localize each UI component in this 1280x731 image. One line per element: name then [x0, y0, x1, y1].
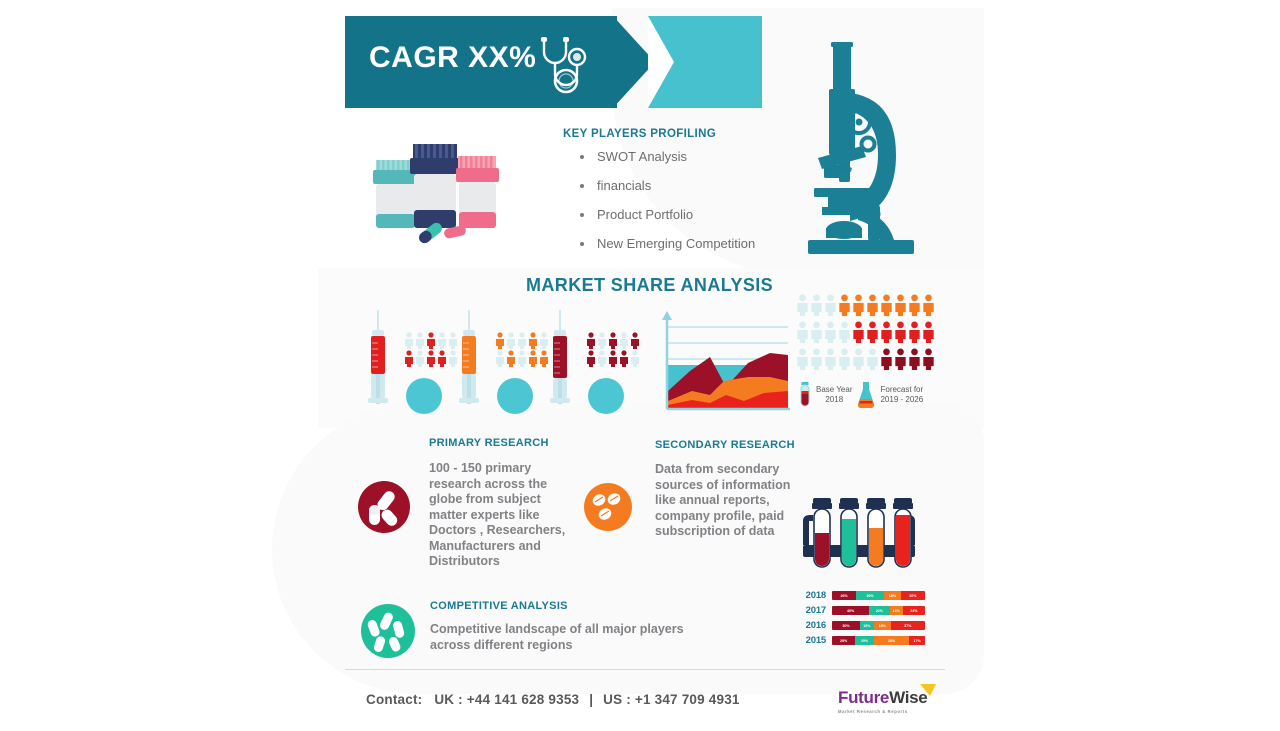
market-share-dot: [588, 378, 624, 414]
syringe-icon: [457, 310, 483, 414]
logo-part-future: Future: [838, 688, 889, 707]
bar-segment: 26%: [832, 591, 856, 600]
bar-segment: 20%: [855, 636, 874, 645]
bar-segment: 14%: [890, 606, 903, 615]
capsules-circle-icon: [361, 604, 415, 658]
pictogram-row: [796, 294, 956, 316]
bar-segment: 30%: [832, 621, 860, 630]
banner-notch-shape: [648, 16, 674, 108]
contact-line: Contact: UK : +44 141 628 9353 | US : +1…: [366, 692, 740, 707]
competitive-analysis-title: COMPETITIVE ANALYSIS: [430, 600, 568, 612]
market-share-dot: [497, 378, 533, 414]
microscope-icon: [806, 18, 930, 265]
people-pictogram-grid: [404, 332, 462, 367]
list-item: New Emerging Competition: [575, 237, 805, 251]
table-row: 2017 40% 22% 14% 24%: [800, 604, 925, 617]
bar-segment: 18%: [884, 591, 901, 600]
market-share-title: MARKET SHARE ANALYSIS: [526, 275, 773, 296]
syringe-group: [548, 310, 574, 419]
pills-circle-icon: [358, 481, 410, 533]
test-tube-icon: [798, 382, 812, 408]
primary-research-body: 100 - 150 primary research across the gl…: [429, 461, 581, 570]
footer-divider: [345, 669, 945, 670]
year-label: 2016: [800, 620, 826, 631]
stethoscope-icon: [534, 34, 596, 101]
year-label: 2015: [800, 635, 826, 646]
contact-label: Contact:: [366, 692, 422, 707]
chart-axis-arrow: [662, 311, 672, 320]
stacked-bar-track: 40% 22% 14% 24%: [832, 606, 925, 615]
contact-us: US : +1 347 709 4931: [603, 692, 739, 707]
market-share-dot: [406, 378, 442, 414]
syringe-icon: [548, 310, 574, 414]
competitive-analysis-body: Competitive landscape of all major playe…: [430, 622, 720, 653]
test-tube-rack-icon: [795, 495, 923, 588]
legend-base-year: Base Year 2018: [816, 385, 852, 405]
cagr-title: CAGR XX%: [369, 41, 536, 75]
legend-forecast: Forecast for 2019 - 2026: [880, 385, 923, 405]
stacked-bar-track: 30% 15% 18% 37%: [832, 621, 925, 630]
bar-segment: 24%: [903, 606, 925, 615]
year-label: 2017: [800, 605, 826, 616]
infographic-canvas: CAGR XX% KEY PLAYERS PROFILING SWOT Anal…: [0, 0, 1280, 731]
pill-bottles-icon: [358, 138, 508, 253]
pictogram-row: [796, 348, 956, 370]
pictogram-row: [796, 321, 956, 343]
stacked-bar-track: 25% 20% 38% 17%: [832, 636, 925, 645]
bar-segment: 18%: [874, 621, 891, 630]
bar-segment: 15%: [860, 621, 874, 630]
forecast-pictogram: [796, 294, 956, 375]
bar-segment: 40%: [832, 606, 869, 615]
key-players-title: KEY PLAYERS PROFILING: [563, 128, 716, 140]
list-item: Product Portfolio: [575, 208, 805, 222]
table-row: 2016 30% 15% 18% 37%: [800, 619, 925, 632]
flask-icon: [856, 382, 876, 408]
market-share-area-chart: [652, 305, 792, 420]
logo-triangle-icon: [920, 684, 936, 698]
bar-segment: 22%: [869, 606, 889, 615]
primary-research-title: PRIMARY RESEARCH: [429, 437, 549, 449]
syringe-icon: [366, 310, 392, 414]
secondary-research-title: SECONDARY RESEARCH: [655, 439, 795, 451]
year-label: 2018: [800, 590, 826, 601]
stacked-bar-track: 26% 30% 18% 26%: [832, 591, 925, 600]
futurewise-logo[interactable]: FutureWise Market Research & Reports: [838, 688, 927, 714]
year-stacked-bar-chart: 2018 26% 30% 18% 26% 2017 40% 22% 14% 24…: [800, 589, 925, 649]
list-item: SWOT Analysis: [575, 150, 805, 164]
bar-segment: 26%: [901, 591, 925, 600]
cagr-banner: CAGR XX%: [345, 16, 762, 108]
table-row: 2018 26% 30% 18% 26%: [800, 589, 925, 602]
contact-separator: |: [589, 692, 593, 707]
pills-circle-icon: [584, 483, 632, 531]
bar-segment: 25%: [832, 636, 855, 645]
bar-segment: 38%: [874, 636, 909, 645]
bar-segment: 37%: [891, 621, 925, 630]
forecast-legend: Base Year 2018 Forecast for 2019 - 2026: [798, 382, 958, 408]
bar-segment: 17%: [909, 636, 925, 645]
list-item: financials: [575, 179, 805, 193]
people-pictogram-grid: [495, 332, 553, 367]
syringe-group: [457, 310, 483, 419]
syringe-group: [366, 310, 392, 419]
logo-tagline: Market Research & Reports: [838, 709, 927, 714]
people-pictogram-grid: [586, 332, 644, 367]
key-players-list: SWOT Analysis financials Product Portfol…: [575, 150, 805, 266]
contact-uk: UK : +44 141 628 9353: [434, 692, 579, 707]
secondary-research-body: Data from secondary sources of informati…: [655, 462, 805, 540]
table-row: 2015 25% 20% 38% 17%: [800, 634, 925, 647]
bar-segment: 30%: [856, 591, 884, 600]
